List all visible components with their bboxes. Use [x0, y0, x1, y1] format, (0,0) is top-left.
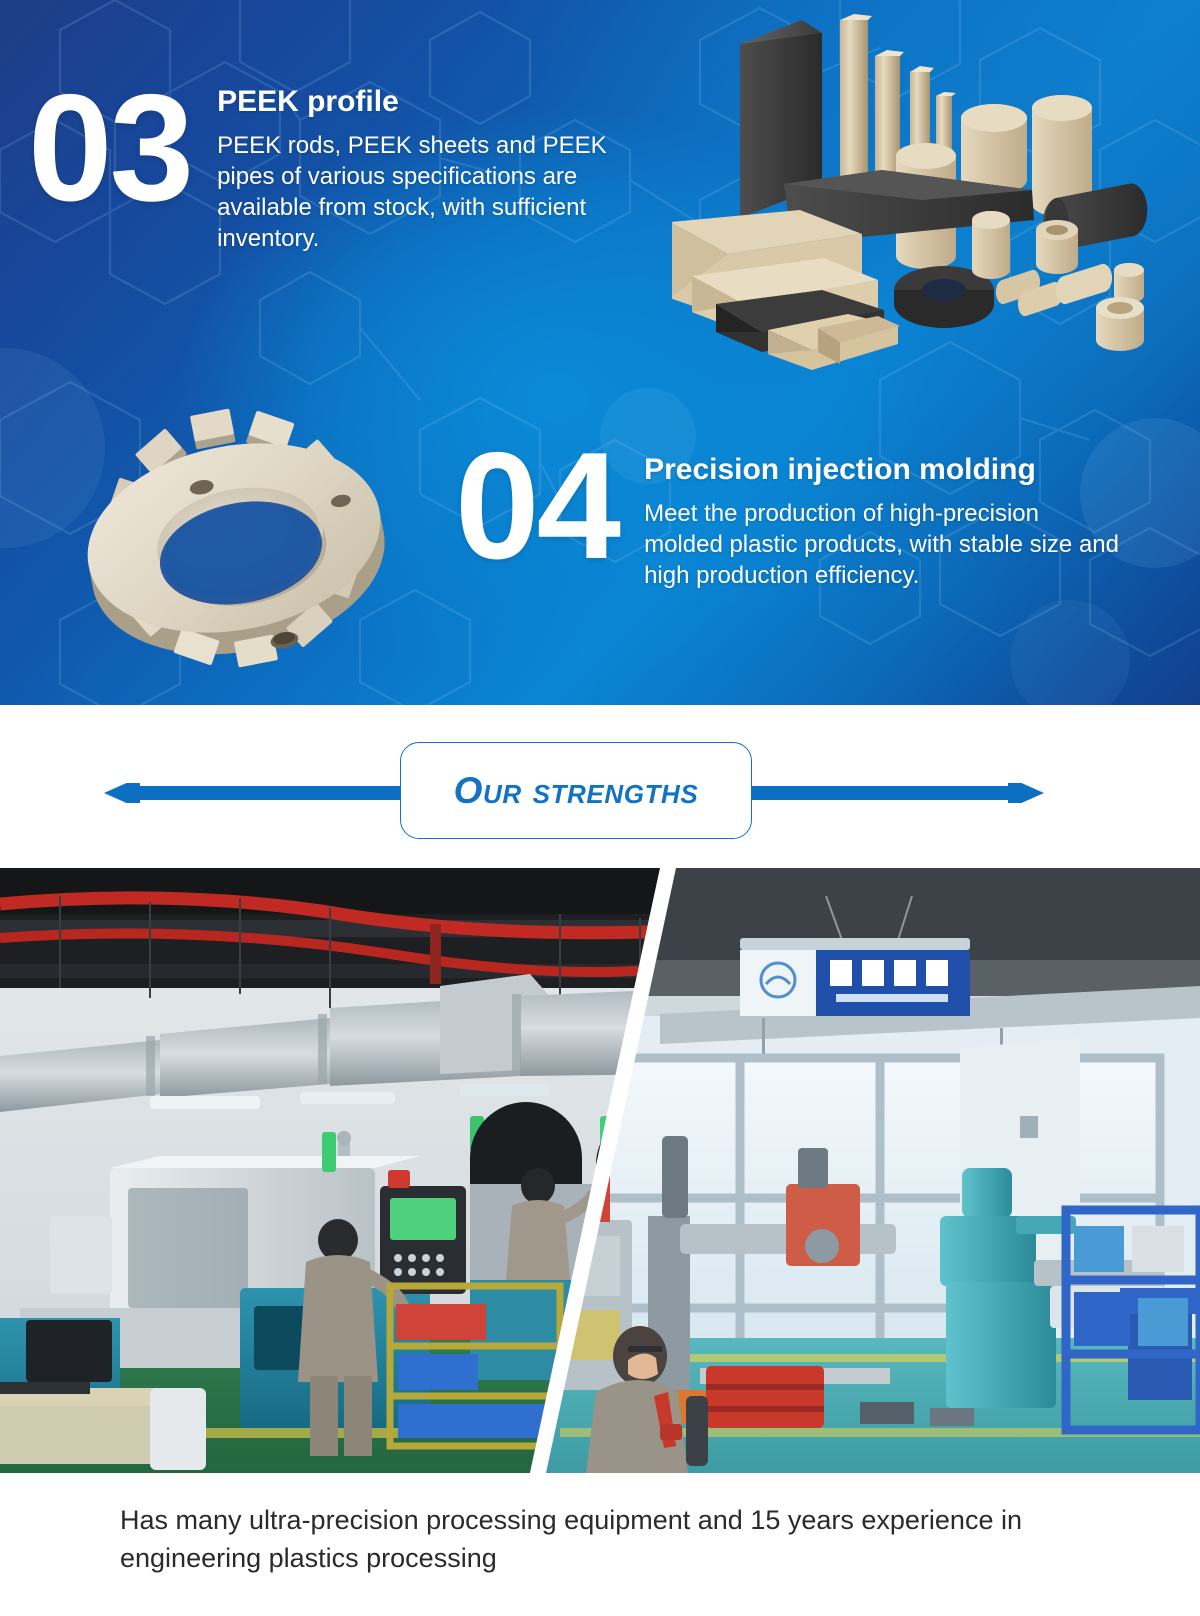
feature-block-04: 04 Precision injection molding Meet the … [455, 432, 1124, 592]
caption-section: Has many ultra-precision processing equi… [0, 1473, 1200, 1616]
peek-stock-shapes-photo [672, 8, 1200, 378]
feature-body-03: PEEK rods, PEEK sheets and PEEK pipes of… [217, 131, 647, 254]
caption-text: Has many ultra-precision processing equi… [120, 1501, 1080, 1578]
peek-gear-ring-photo [24, 398, 444, 690]
feature-number-03: 03 [28, 74, 191, 254]
our-strengths-label: Our strengths [454, 770, 699, 812]
our-strengths-box: Our strengths [400, 742, 752, 839]
feature-number-04: 04 [455, 432, 618, 592]
feature-title-04: Precision injection molding [644, 452, 1124, 487]
feature-title-03: PEEK profile [217, 84, 647, 119]
workshop-photo-strip [0, 868, 1200, 1473]
our-strengths-banner: Our strengths [0, 705, 1200, 868]
hero-section: 03 PEEK profile PEEK rods, PEEK sheets a… [0, 0, 1200, 705]
feature-block-03: 03 PEEK profile PEEK rods, PEEK sheets a… [28, 74, 647, 254]
feature-body-04: Meet the production of high-precision mo… [644, 499, 1124, 591]
